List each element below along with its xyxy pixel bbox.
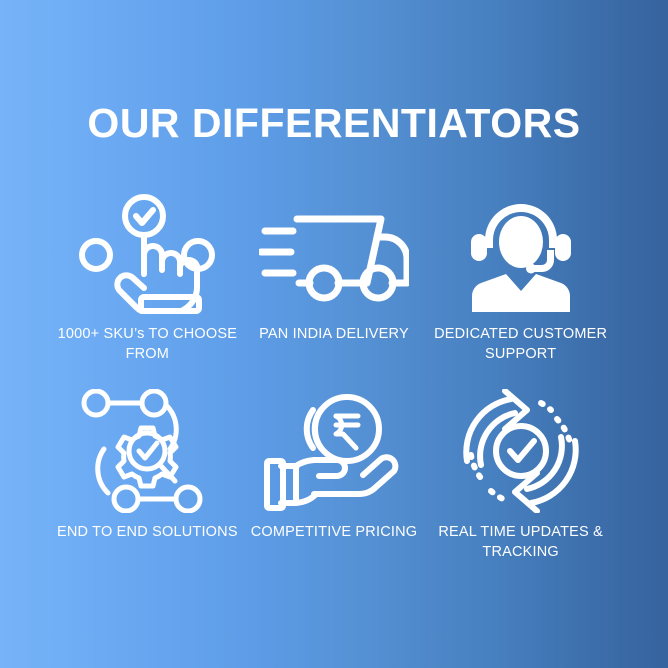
headset-support-agent-icon xyxy=(446,190,596,316)
delivery-truck-icon xyxy=(259,190,409,316)
hand-rupee-coin-icon xyxy=(259,388,409,514)
differentiators-poster: OUR DIFFERENTIATORS 1000+ SKU’s TO CHOOS… xyxy=(0,0,668,668)
feature-item: 1000+ SKU’s TO CHOOSE FROM xyxy=(54,190,241,364)
feature-label: DEDICATED CUSTOMER SUPPORT xyxy=(430,325,612,364)
feature-label: COMPETITIVE PRICING xyxy=(243,523,425,543)
feature-label: 1000+ SKU’s TO CHOOSE FROM xyxy=(56,325,238,364)
feature-item: END TO END SOLUTIONS xyxy=(54,388,241,562)
gear-magnifier-network-icon xyxy=(72,388,222,514)
feature-item: PAN INDIA DELIVERY xyxy=(241,190,428,364)
feature-item: COMPETITIVE PRICING xyxy=(241,388,428,562)
features-grid: 1000+ SKU’s TO CHOOSE FROM PAN INDIA DEL… xyxy=(54,190,614,562)
feature-item: DEDICATED CUSTOMER SUPPORT xyxy=(427,190,614,364)
feature-item: REAL TIME UPDATES & TRACKING xyxy=(427,388,614,562)
feature-label: REAL TIME UPDATES & TRACKING xyxy=(430,523,612,562)
feature-label: PAN INDIA DELIVERY xyxy=(243,325,425,345)
feature-label: END TO END SOLUTIONS xyxy=(56,523,238,543)
page-title: OUR DIFFERENTIATORS xyxy=(87,103,580,144)
sync-arrows-check-icon xyxy=(446,388,596,514)
hand-tap-select-icon xyxy=(72,190,222,316)
